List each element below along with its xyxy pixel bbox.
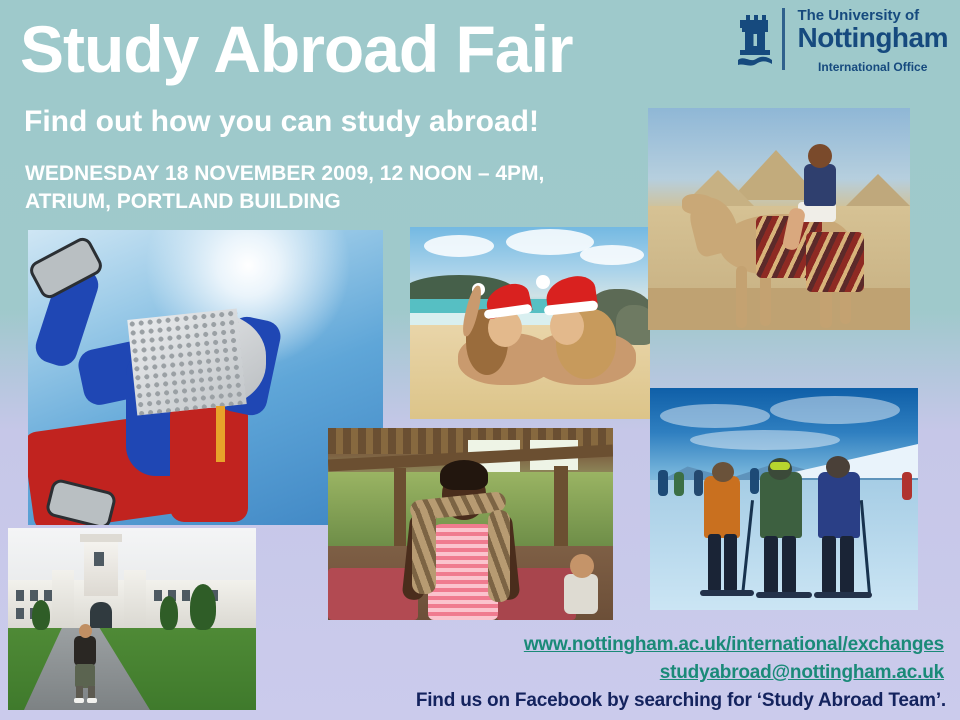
page-title: Study Abroad Fair bbox=[20, 16, 573, 82]
logo-line-2: Nottingham bbox=[797, 24, 948, 52]
photo-skiers bbox=[650, 388, 918, 610]
castle-tower-icon bbox=[736, 8, 774, 68]
logo-line-3: International Office bbox=[797, 60, 948, 74]
event-line-1: WEDNESDAY 18 NOVEMBER 2009, 12 NOON – 4P… bbox=[25, 160, 544, 188]
facebook-note: Find us on Facebook by searching for ‘St… bbox=[416, 690, 946, 712]
photo-beach-santa-hats bbox=[410, 227, 650, 419]
logo-wordmark: The University of Nottingham Internation… bbox=[797, 8, 948, 74]
website-link[interactable]: www.nottingham.ac.uk/international/excha… bbox=[524, 634, 944, 656]
photo-camel-pyramids bbox=[648, 108, 910, 330]
event-details: WEDNESDAY 18 NOVEMBER 2009, 12 NOON – 4P… bbox=[25, 160, 544, 215]
photo-campus-portland bbox=[8, 528, 256, 710]
poster-canvas: Study Abroad Fair Find out how you can s… bbox=[0, 0, 960, 720]
event-line-2: ATRIUM, PORTLAND BUILDING bbox=[25, 188, 544, 216]
photo-snake-handler bbox=[328, 428, 613, 620]
email-link[interactable]: studyabroad@nottingham.ac.uk bbox=[660, 662, 944, 684]
logo-divider bbox=[782, 8, 785, 70]
university-logo: The University of Nottingham Internation… bbox=[736, 8, 948, 74]
subtitle: Find out how you can study abroad! bbox=[24, 105, 539, 139]
